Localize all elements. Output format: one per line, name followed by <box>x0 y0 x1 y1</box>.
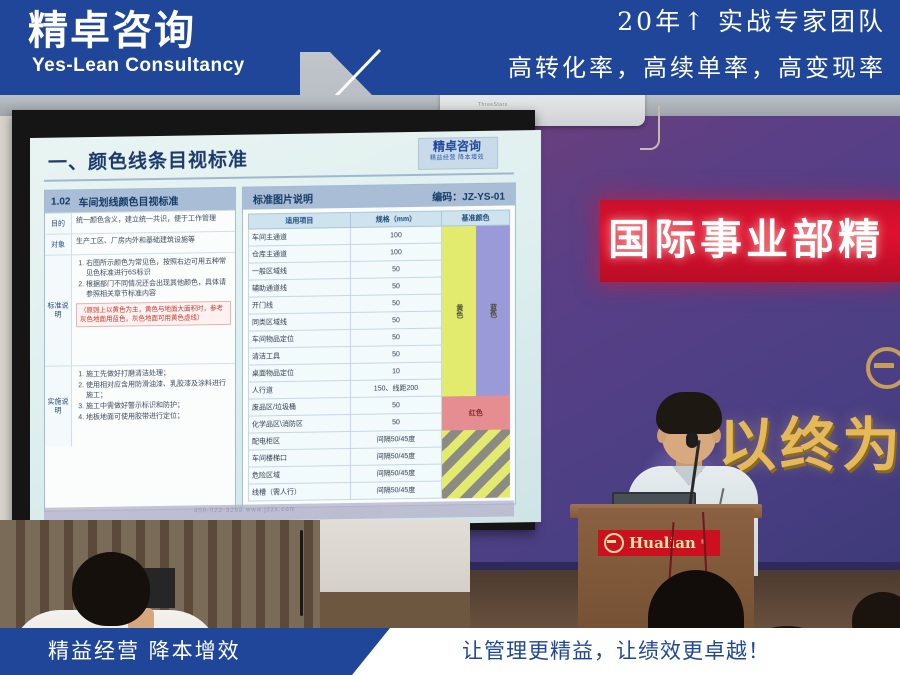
spec-item: 开门线 <box>249 295 351 314</box>
slide-watermark-en: 精益经营 降本增效 <box>422 154 492 163</box>
spec-value: 50 <box>350 413 441 431</box>
slide-right-panel: 标准图片说明 编码：JZ-YS-01 适用项目 规格（mm） 基 <box>242 182 516 508</box>
spec-value: 50 <box>350 345 441 363</box>
color-swatch-label: 黄色 <box>454 304 464 318</box>
spec-item: 线槽（需人行） <box>249 482 351 501</box>
color-swatch-red: 红色 <box>442 395 510 430</box>
spec-value: 150、线距200 <box>350 379 441 397</box>
audience-member <box>618 570 768 632</box>
footer-left-text: 精益经营 降本增效 <box>48 637 241 665</box>
podium-brand-plaque: Hualian ® <box>598 530 720 556</box>
audience-head <box>648 570 744 632</box>
left-panel-row: 目的 统一颜色含义，建立统一共识，便于工作管理 <box>45 210 235 234</box>
row-label-purpose: 目的 <box>45 213 72 233</box>
spec-item: 车间主通道 <box>249 227 351 246</box>
slide-title-rule <box>44 172 514 181</box>
row-label-standard: 标准说明 <box>45 255 72 365</box>
standard-code: 1.02 <box>45 196 70 207</box>
left-panel-header: 1.02 车间划线颜色目视标准 <box>45 188 235 213</box>
spec-item: 废品区/垃圾桶 <box>249 397 351 416</box>
top-brand-bar: 精卓咨询 Yes-Lean Consultancy 20年↑ 实战专家团队 高转… <box>0 0 900 95</box>
spec-item: 车间楼梯口 <box>249 448 351 467</box>
slide-content: 一、颜色线条目视标准 精卓咨询 精益经营 降本增效 1.02 车间划线颜色目视标… <box>30 130 541 530</box>
bottom-brand-bar: 精益经营 降本增效 让管理更精益，让绩效更卓越！ <box>0 628 900 675</box>
seminar-photo: ThreeStars 国际事业部精 以终为 一、颜色线条目视标准 精卓咨询 精益… <box>0 92 900 632</box>
spec-table-row: 车间主通道100黄色蓝色 <box>249 225 510 246</box>
brand-tagline-sub: 高转化率，高续单率，高变现率 <box>508 54 886 82</box>
podium-brand-text: Hualian <box>629 535 696 551</box>
color-swatch-stripe <box>442 429 510 498</box>
spec-value: 间隔50/45度 <box>350 464 441 482</box>
right-panel-title: 标准图片说明 <box>253 190 313 206</box>
row-value-target: 生产工区、厂房内外和基础建筑设施等 <box>72 232 235 255</box>
color-swatch-yellow: 黄色 <box>442 226 476 397</box>
spec-item: 配电柜区 <box>249 431 351 450</box>
spec-value: 50 <box>350 294 441 312</box>
spec-value: 100 <box>350 226 441 244</box>
red-banner-text: 国际事业部精 <box>608 210 884 270</box>
col-color: 基准颜色 <box>442 210 510 226</box>
col-item: 适用项目 <box>249 212 351 229</box>
spec-item: 一般区域线 <box>249 261 351 280</box>
spec-item: 桌面物品定位 <box>249 363 351 382</box>
slide-watermark-cn: 精卓咨询 <box>422 139 492 154</box>
ac-pipe <box>640 106 660 150</box>
diagonal-accent-icon <box>322 48 382 95</box>
impl-item: 地板地面可使用胶带进行定位； <box>86 411 231 423</box>
brand-logo-cn: 精卓咨询 <box>28 10 196 52</box>
speaker-hair <box>656 392 722 434</box>
color-swatch-label: 红色 <box>469 407 483 417</box>
spec-table: 适用项目 规格（mm） 基准颜色 车间主通道100黄色蓝色仓库主通道100一般区… <box>248 209 510 501</box>
row-label-target: 对象 <box>45 234 72 254</box>
spec-value: 50 <box>350 260 441 278</box>
col-spec: 规格（mm） <box>350 211 441 227</box>
audience-head <box>72 552 150 626</box>
spec-value: 50 <box>350 311 441 329</box>
hualian-wall-logo-icon <box>866 347 900 389</box>
right-panel-code: 编码：JZ-YS-01 <box>432 187 505 203</box>
slide-left-panel: 1.02 车间划线颜色目视标准 目的 统一颜色含义，建立统一共识，便于工作管理 … <box>44 187 236 512</box>
spec-value: 间隔50/45度 <box>350 481 441 499</box>
row-value-standard: 右图所示颜色为常见色，按照右边可用五种常见色标准进行6S标识 根据部门不同情况还… <box>72 253 235 366</box>
spec-item: 化学品区\消防区 <box>249 414 351 433</box>
color-swatch-label: 蓝色 <box>488 303 498 317</box>
spec-item: 车间物品定位 <box>249 329 351 348</box>
spec-value: 间隔50/45度 <box>350 430 441 448</box>
spec-value: 50 <box>350 328 441 346</box>
spec-value: 间隔50/45度 <box>350 447 441 465</box>
slide-footer-text: 400-022-3288 www.jzzx.com <box>194 507 296 515</box>
spec-item: 辅助通道线 <box>249 278 351 297</box>
audience-head <box>852 592 900 632</box>
standard-note: （原则上以黄色为主，黄色与地面大面积时，参考灰色地面用蓝色，灰色地面可用黄色虚线… <box>76 301 231 327</box>
projection-screen-frame: 一、颜色线条目视标准 精卓咨询 精益经营 降本增效 1.02 车间划线颜色目视标… <box>12 110 535 530</box>
screenshot-frame: 精卓咨询 Yes-Lean Consultancy 20年↑ 实战专家团队 高转… <box>0 0 900 675</box>
color-swatch-blue: 蓝色 <box>476 225 510 396</box>
audience-member <box>826 592 900 632</box>
footer-right-text: 让管理更精益，让绩效更卓越！ <box>462 638 770 664</box>
hualian-logo-icon <box>604 533 624 553</box>
spec-item: 清洁工具 <box>249 346 351 365</box>
brand-logo-en: Yes-Lean Consultancy <box>32 56 245 76</box>
slide-title: 一、颜色线条目视标准 <box>48 149 248 174</box>
spec-table-row: 配电柜区间隔50/45度 <box>249 429 510 450</box>
left-panel-row: 标准说明 右图所示颜色为常见色，按照右边可用五种常见色标准进行6S标识 根据部门… <box>45 252 235 366</box>
left-panel-row: 对象 生产工区、厂房内外和基础建筑设施等 <box>45 231 235 255</box>
left-panel-row: 实施说明 施工先做好打磨清洁处理； 使用相对应含用防滑油漆、乳胶漆及涂料进行施工… <box>45 363 235 447</box>
spec-value: 50 <box>350 396 441 414</box>
spec-value: 100 <box>350 243 441 261</box>
projection-screen: 一、颜色线条目视标准 精卓咨询 精益经营 降本增效 1.02 车间划线颜色目视标… <box>30 130 541 530</box>
audience-member <box>20 552 210 632</box>
spec-table-row: 废品区/垃圾桶50红色 <box>249 395 510 416</box>
microphone-head-icon <box>686 432 698 448</box>
spec-value: 10 <box>350 362 441 380</box>
hanging-cord <box>300 530 303 616</box>
spec-item: 同类区域线 <box>249 312 351 331</box>
standard-item: 根据部门不同情况还会出现其他颜色，具体请参照相关章节标准内容 <box>86 278 231 300</box>
spec-value: 50 <box>350 277 441 295</box>
spec-item: 危险区域 <box>249 465 351 484</box>
row-label-implementation: 实施说明 <box>45 366 72 446</box>
row-value-purpose: 统一颜色含义，建立统一共识，便于工作管理 <box>72 211 235 234</box>
row-value-implementation: 施工先做好打磨清洁处理； 使用相对应含用防滑油漆、乳胶漆及涂料进行施工； 施工中… <box>72 364 235 447</box>
spec-item: 仓库主通道 <box>249 244 351 263</box>
brand-tagline-top: 20年↑ 实战专家团队 <box>617 8 886 36</box>
rail-wood-panel <box>320 592 470 632</box>
spec-table-wrap: 适用项目 规格（mm） 基准颜色 车间主通道100黄色蓝色仓库主通道100一般区… <box>243 205 515 505</box>
ac-brand-label: ThreeStars <box>478 102 508 108</box>
spec-item: 人行道 <box>249 380 351 399</box>
standard-item: 右图所示颜色为常见色，按照右边可用五种常见色标准进行6S标识 <box>86 257 231 279</box>
impl-item: 使用相对应含用防滑油漆、乳胶漆及涂料进行施工； <box>86 379 231 401</box>
standard-name: 车间划线颜色目视标准 <box>70 192 178 209</box>
